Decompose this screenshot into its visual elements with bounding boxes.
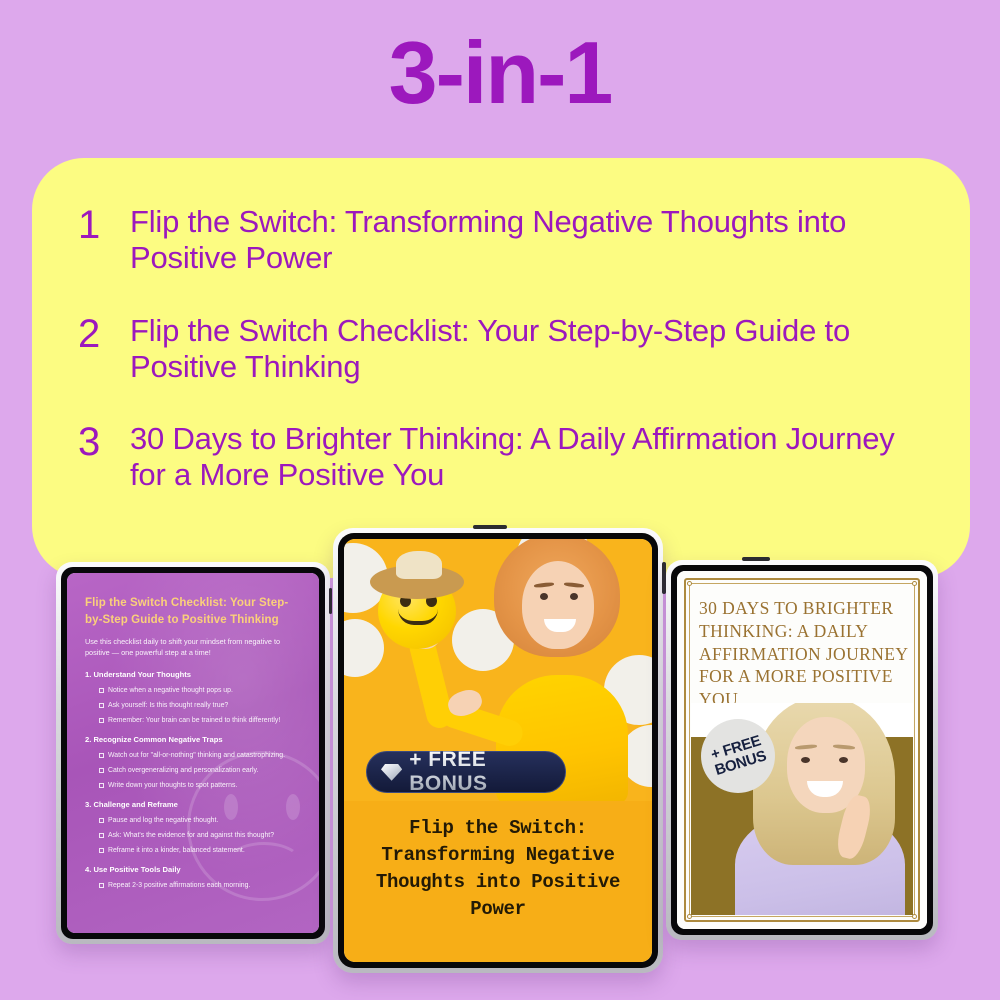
ebook-title-center: Flip the Switch: Transforming Negative T… [344,801,652,962]
checklist-item: Ask: What's the evidence for and against… [99,832,301,839]
ebook-title-right: 30 DAYS TO BRIGHTER THINKING: A DAILY AF… [699,597,909,711]
checklist-heading: Flip the Switch Checklist: Your Step-by-… [85,595,301,628]
checklist-item: Repeat 2-3 positive affirmations each mo… [99,882,301,889]
corner-dot-icon [912,581,917,586]
free-bonus-badge: + FREE BONUS [366,751,566,793]
checklist-item-label: Write down your thoughts to spot pattern… [108,782,237,789]
tablet-bezel: 30 DAYS TO BRIGHTER THINKING: A DAILY AF… [671,565,933,935]
checkbox-icon [99,783,104,788]
checklist-item-label: Reframe it into a kinder, balanced state… [108,847,245,854]
list-item-number: 2 [78,313,130,355]
woman-eye [801,757,810,763]
power-button-icon [329,588,332,614]
checklist-item-label: Repeat 2-3 positive affirmations each mo… [108,882,250,889]
tablet-bezel: Flip the Switch Checklist: Your Step-by-… [61,567,325,939]
checkbox-icon [99,718,104,723]
free-bonus-badge: + FREEBONUS [701,719,775,793]
corner-dot-icon [687,581,692,586]
checklist-item: Catch overgeneralizing and personalizati… [99,767,301,774]
diamond-icon [381,764,402,781]
checklist-item: Remember: Your brain can be trained to t… [99,717,301,724]
top-button-icon [742,557,770,561]
checklist-item: Watch out for "all-or-nothing" thinking … [99,752,301,759]
checklist-item: Notice when a negative thought pops up. [99,687,301,694]
checkbox-icon [99,883,104,888]
checklist-item: Reframe it into a kinder, balanced state… [99,847,301,854]
checkbox-icon [99,833,104,838]
woman-face [522,561,594,649]
checkbox-icon [99,848,104,853]
woman-eye [540,593,548,600]
checklist-section-heading: 4. Use Positive Tools Daily [85,865,301,874]
checklist-item: Write down your thoughts to spot pattern… [99,782,301,789]
promo-poster: 3-in-1 1 Flip the Switch: Transforming N… [0,0,1000,1000]
woman-eye [570,593,578,600]
checklist-item: Pause and log the negative thought. [99,817,301,824]
tablet-screen: 30 DAYS TO BRIGHTER THINKING: A DAILY AF… [677,571,927,929]
checklist-section-heading: 2. Recognize Common Negative Traps [85,735,301,744]
tablet-screen: Flip the Switch Checklist: Your Step-by-… [67,573,319,933]
checklist-item: Ask yourself: Is this thought really tru… [99,702,301,709]
bundle-list-card: 1 Flip the Switch: Transforming Negative… [32,158,970,578]
checklist-section-heading: 1. Understand Your Thoughts [85,670,301,679]
list-item-number: 1 [78,204,130,246]
checklist-item-label: Remember: Your brain can be trained to t… [108,717,280,724]
decor-circle [344,619,384,677]
checklist-item-label: Watch out for "all-or-nothing" thinking … [108,752,285,759]
page-title: 3-in-1 [0,22,1000,123]
checkbox-icon [99,768,104,773]
list-item-number: 3 [78,421,130,463]
list-item-label: Flip the Switch Checklist: Your Step-by-… [130,313,936,386]
ebook-cover-right: 30 DAYS TO BRIGHTER THINKING: A DAILY AF… [677,571,927,929]
tablet-left: Flip the Switch Checklist: Your Step-by-… [56,562,330,944]
checklist-item-label: Catch overgeneralizing and personalizati… [108,767,258,774]
hat-top [396,551,442,579]
checklist-intro: Use this checklist daily to shift your m… [85,637,301,659]
checkbox-icon [99,703,104,708]
checklist-item-label: Ask: What's the evidence for and against… [108,832,274,839]
list-item-label: 30 Days to Brighter Thinking: A Daily Af… [130,421,936,494]
tablet-bezel: + FREE BONUS Flip the Switch: Transformi… [338,533,658,968]
cover-photo: + FREE BONUS [344,539,652,801]
free-bonus-label: + FREE BONUS [409,748,565,796]
checklist-item-label: Ask yourself: Is this thought really tru… [108,702,228,709]
list-item-label: Flip the Switch: Transforming Negative T… [130,204,936,277]
top-button-icon [473,525,507,529]
checkbox-icon [99,753,104,758]
list-item: 2 Flip the Switch Checklist: Your Step-b… [78,313,936,386]
tablet-screen: + FREE BONUS Flip the Switch: Transformi… [344,539,652,962]
list-item: 1 Flip the Switch: Transforming Negative… [78,204,936,277]
cover-photo: + FREEBONUS [691,703,913,915]
checklist-item-label: Notice when a negative thought pops up. [108,687,233,694]
free-bonus-label: + FREEBONUS [708,733,768,779]
woman-eye [839,757,848,763]
ebook-cover-center: + FREE BONUS Flip the Switch: Transformi… [344,539,652,962]
checkbox-icon [99,688,104,693]
checklist-item-label: Pause and log the negative thought. [108,817,218,824]
tablet-center: + FREE BONUS Flip the Switch: Transformi… [333,528,663,973]
checkbox-icon [99,818,104,823]
list-item: 3 30 Days to Brighter Thinking: A Daily … [78,421,936,494]
checklist-section-heading: 3. Challenge and Reframe [85,800,301,809]
tablet-right: 30 DAYS TO BRIGHTER THINKING: A DAILY AF… [666,560,938,940]
checklist-cover: Flip the Switch Checklist: Your Step-by-… [67,573,319,933]
